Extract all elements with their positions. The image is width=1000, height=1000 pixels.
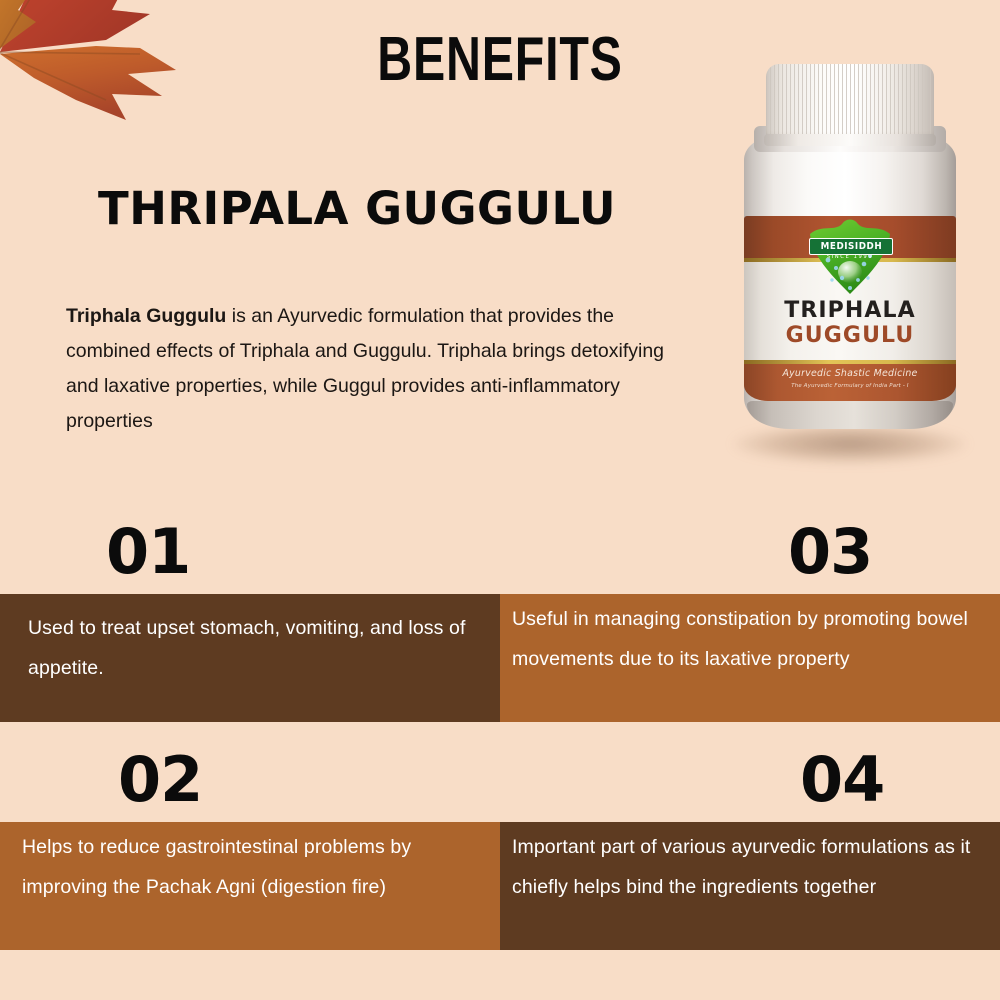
benefit-text-02: Helps to reduce gastrointestinal problem… (0, 822, 500, 950)
bottle-cap (766, 64, 934, 140)
bottle-base (747, 401, 953, 429)
benefits-poster: BENEFITS THRIPALA GUGGULU Triphala Guggu… (0, 0, 1000, 1000)
bottle: MEDISIDDH SINCE 1999 TRIPHALA GUGGULU Ay… (744, 64, 956, 434)
benefit-number-04: 04 (800, 749, 884, 811)
benefit-text-01: Used to treat upset stomach, vomiting, a… (0, 594, 500, 722)
label-subtitle: Ayurvedic Shastic Medicine (744, 368, 956, 379)
benefit-text-03: Useful in managing constipation by promo… (500, 594, 1000, 722)
label-footnote: The Ayurvedic Formulary of India Part - … (744, 383, 956, 389)
brand-tagline: SINCE 1999 (820, 254, 880, 260)
intro-paragraph: Triphala Guggulu is an Ayurvedic formula… (66, 299, 678, 439)
brand-badge: MEDISIDDH (809, 238, 893, 255)
intro-bold-term: Triphala Guggulu (66, 305, 226, 327)
brand-name: MEDISIDDH (820, 241, 882, 252)
bottle-cap-lip (764, 134, 936, 146)
benefit-text-04: Important part of various ayurvedic form… (500, 822, 1000, 950)
label-product-name-line2: GUGGULU (744, 323, 956, 348)
benefit-number-03: 03 (788, 521, 872, 583)
benefit-number-01: 01 (106, 521, 190, 583)
bottle-label: MEDISIDDH SINCE 1999 TRIPHALA GUGGULU Ay… (744, 216, 956, 401)
label-product-name-line1: TRIPHALA (744, 298, 956, 323)
benefit-number-02: 02 (118, 749, 202, 811)
product-bottle-image: MEDISIDDH SINCE 1999 TRIPHALA GUGGULU Ay… (714, 62, 986, 472)
product-heading: THRIPALA GUGGULU (98, 182, 616, 235)
